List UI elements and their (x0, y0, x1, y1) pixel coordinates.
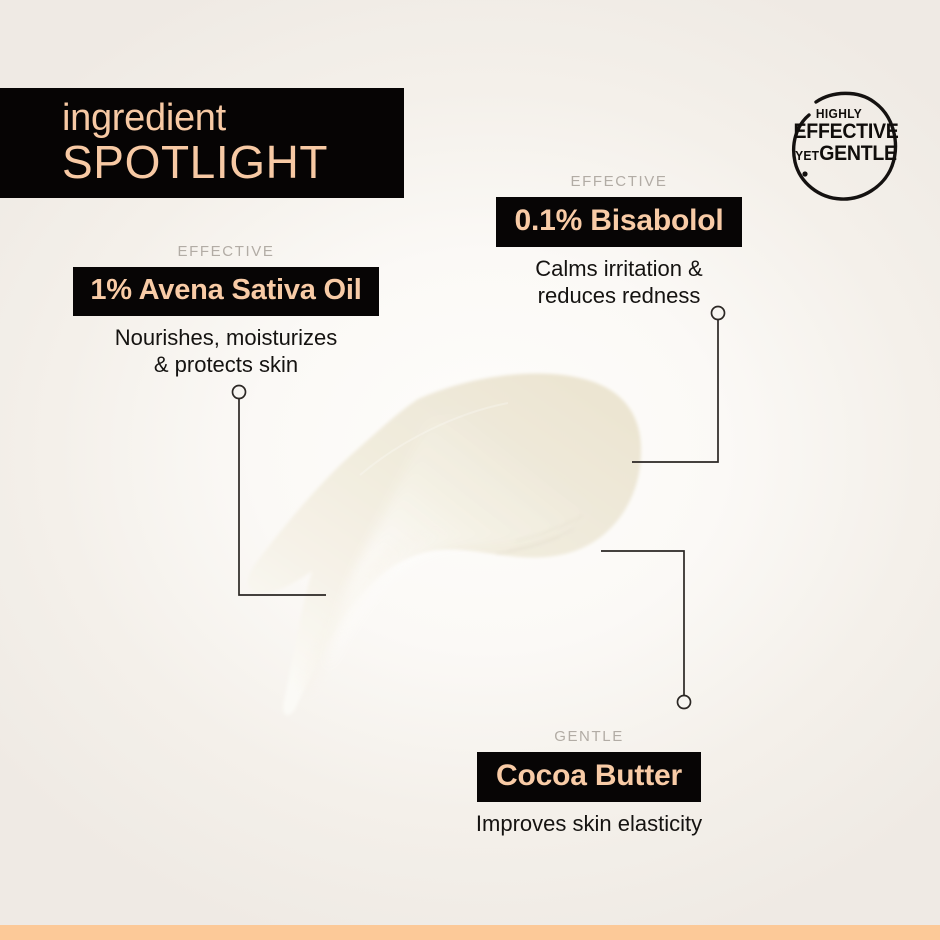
callout-kicker: GENTLE (460, 728, 718, 745)
highly-effective-yet-gentle-badge: HIGHLY EFFECTIVE YETGENTLE (786, 86, 906, 206)
badge-yet-text: YET (795, 148, 819, 163)
callout-description: Calms irritation & reduces redness (479, 256, 759, 310)
callout-name-chip: 0.1% Bisabolol (496, 197, 743, 247)
badge-line-yet-gentle: YETGENTLE (790, 143, 902, 164)
badge-line-effective: EFFECTIVE (790, 121, 902, 142)
cream-swatch-image (240, 355, 710, 735)
callout-description-line1: Improves skin elasticity (460, 811, 718, 838)
callout-description-line2: & protects skin (41, 352, 411, 379)
badge-text: HIGHLY EFFECTIVE YETGENTLE (786, 107, 906, 164)
bottom-accent-bar (0, 925, 940, 940)
callout-avena-sativa-oil: EFFECTIVE 1% Avena Sativa Oil Nourishes,… (41, 243, 411, 379)
badge-line-highly: HIGHLY (777, 107, 900, 120)
callout-description-line1: Calms irritation & (479, 256, 759, 283)
callout-description-line1: Nourishes, moisturizes (41, 325, 411, 352)
page-title-line1: ingredient (62, 100, 404, 137)
page-title: ingredient SPOTLIGHT (0, 88, 404, 198)
callout-name-chip: Cocoa Butter (477, 752, 701, 802)
ingredient-spotlight-infographic: ingredient SPOTLIGHT HIGHLY EFFECTIVE YE… (0, 0, 940, 940)
callout-description: Improves skin elasticity (460, 811, 718, 838)
badge-gentle-text: GENTLE (819, 142, 897, 165)
callout-name-chip: 1% Avena Sativa Oil (73, 267, 378, 316)
callout-cocoa-butter: GENTLE Cocoa Butter Improves skin elasti… (460, 728, 718, 838)
callout-kicker: EFFECTIVE (479, 173, 759, 190)
callout-bisabolol: EFFECTIVE 0.1% Bisabolol Calms irritatio… (479, 173, 759, 310)
callout-description-line2: reduces redness (479, 283, 759, 310)
callout-kicker: EFFECTIVE (41, 243, 411, 260)
page-title-line2: SPOTLIGHT (62, 139, 404, 186)
callout-description: Nourishes, moisturizes & protects skin (41, 325, 411, 379)
